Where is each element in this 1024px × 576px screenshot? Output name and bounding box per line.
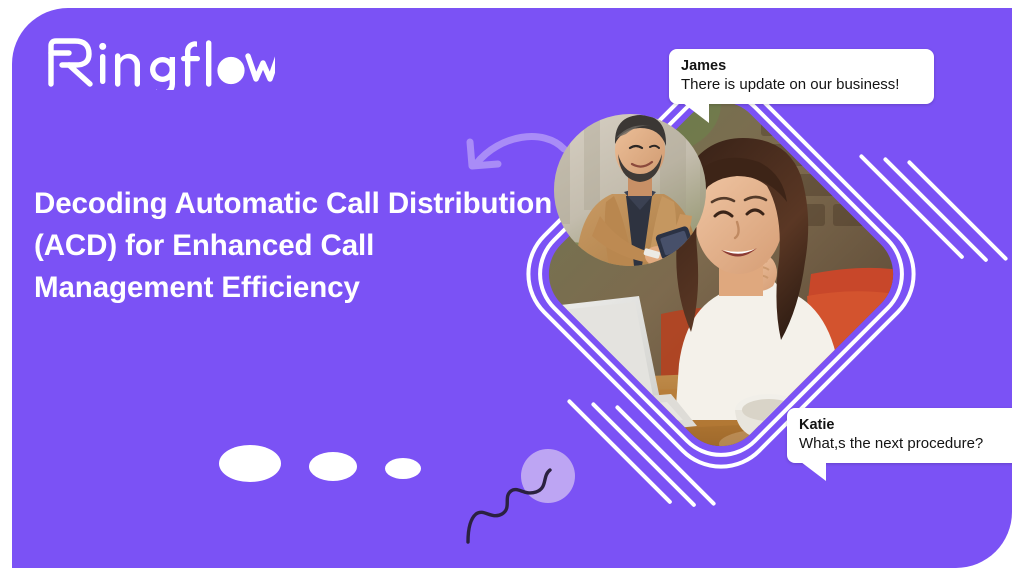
speech-bubble-james[interactable]: James There is update on our business! <box>669 49 934 104</box>
man-with-phone-photo <box>554 114 706 266</box>
photo-diamond-composition <box>542 98 1012 568</box>
diagonal-stripe <box>907 160 1009 262</box>
speaker-message: What,s the next procedure? <box>799 434 1012 454</box>
purple-card: Decoding Automatic Call Distribution (AC… <box>12 8 1012 568</box>
decorative-ellipse-large <box>219 445 281 482</box>
decorative-ellipse-medium <box>309 452 357 481</box>
speaker-name: Katie <box>799 416 1012 434</box>
speech-bubble-katie[interactable]: Katie What,s the next procedure? <box>787 408 1012 463</box>
speaker-message: There is update on our business! <box>681 75 922 95</box>
banner-canvas: Decoding Automatic Call Distribution (AC… <box>0 0 1024 576</box>
decorative-ellipse-small <box>385 458 421 479</box>
page-title: Decoding Automatic Call Distribution (AC… <box>34 183 554 309</box>
bubble-tail <box>801 462 826 481</box>
speaker-name: James <box>681 57 922 75</box>
ringflow-logo[interactable] <box>45 34 275 90</box>
bubble-tail <box>683 103 709 123</box>
